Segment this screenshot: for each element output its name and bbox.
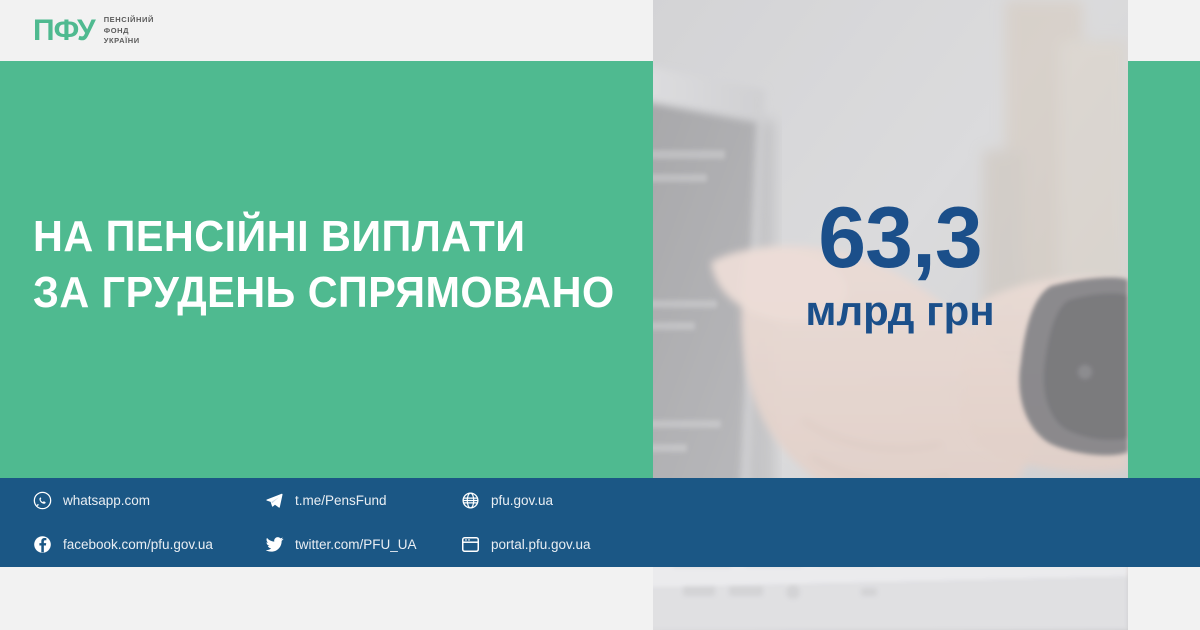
logo-mark-pfu: ПФУ [33, 16, 95, 46]
headline: На пенсійні виплати за грудень спрямован… [33, 209, 615, 322]
pfu-logo[interactable]: ПФУ Пенсійний Фонд України [33, 15, 154, 45]
poster-canvas: ПФУ Пенсійний Фонд України На пенсійні в… [0, 0, 1200, 630]
footer-link-label: pfu.gov.ua [491, 494, 553, 508]
footer-link-label: whatsapp.com [63, 494, 150, 508]
twitter-icon [265, 535, 284, 554]
right-top-spacer [1128, 0, 1200, 61]
footer-link-website[interactable]: pfu.gov.ua [461, 491, 653, 510]
right-green-strip [1128, 61, 1200, 478]
bottom-left-spacer [0, 567, 653, 630]
footer-link-label: facebook.com/pfu.gov.ua [63, 538, 213, 552]
footer-link-label: t.me/PensFund [295, 494, 387, 508]
globe-icon [461, 491, 480, 510]
browser-icon [461, 535, 480, 554]
footer-link-label: portal.pfu.gov.ua [491, 538, 591, 552]
logo-line-2: Фонд [104, 26, 154, 35]
bottom-right-spacer [1128, 567, 1200, 630]
footer-link-portal[interactable]: portal.pfu.gov.ua [461, 535, 653, 554]
telegram-icon [265, 491, 284, 510]
green-panel: На пенсійні виплати за грудень спрямован… [0, 61, 653, 478]
header-bar: ПФУ Пенсійний Фонд України [0, 0, 653, 61]
footer-link-whatsapp[interactable]: whatsapp.com [33, 491, 265, 510]
facebook-icon [33, 535, 52, 554]
logo-line-3: України [104, 36, 154, 45]
footer-link-label: twitter.com/PFU_UA [295, 538, 417, 552]
footer-link-facebook[interactable]: facebook.com/pfu.gov.ua [33, 535, 265, 554]
logo-wordmark: Пенсійний Фонд України [104, 15, 154, 45]
whatsapp-icon [33, 491, 52, 510]
footer-link-telegram[interactable]: t.me/PensFund [265, 491, 461, 510]
footer-link-twitter[interactable]: twitter.com/PFU_UA [265, 535, 461, 554]
footer-bar: whatsapp.com t.me/PensFund [0, 478, 1200, 567]
headline-line-1: На пенсійні виплати [33, 209, 615, 265]
footer-links: whatsapp.com t.me/PensFund [33, 478, 653, 567]
logo-line-1: Пенсійний [104, 15, 154, 24]
headline-line-2: за грудень спрямовано [33, 265, 615, 321]
